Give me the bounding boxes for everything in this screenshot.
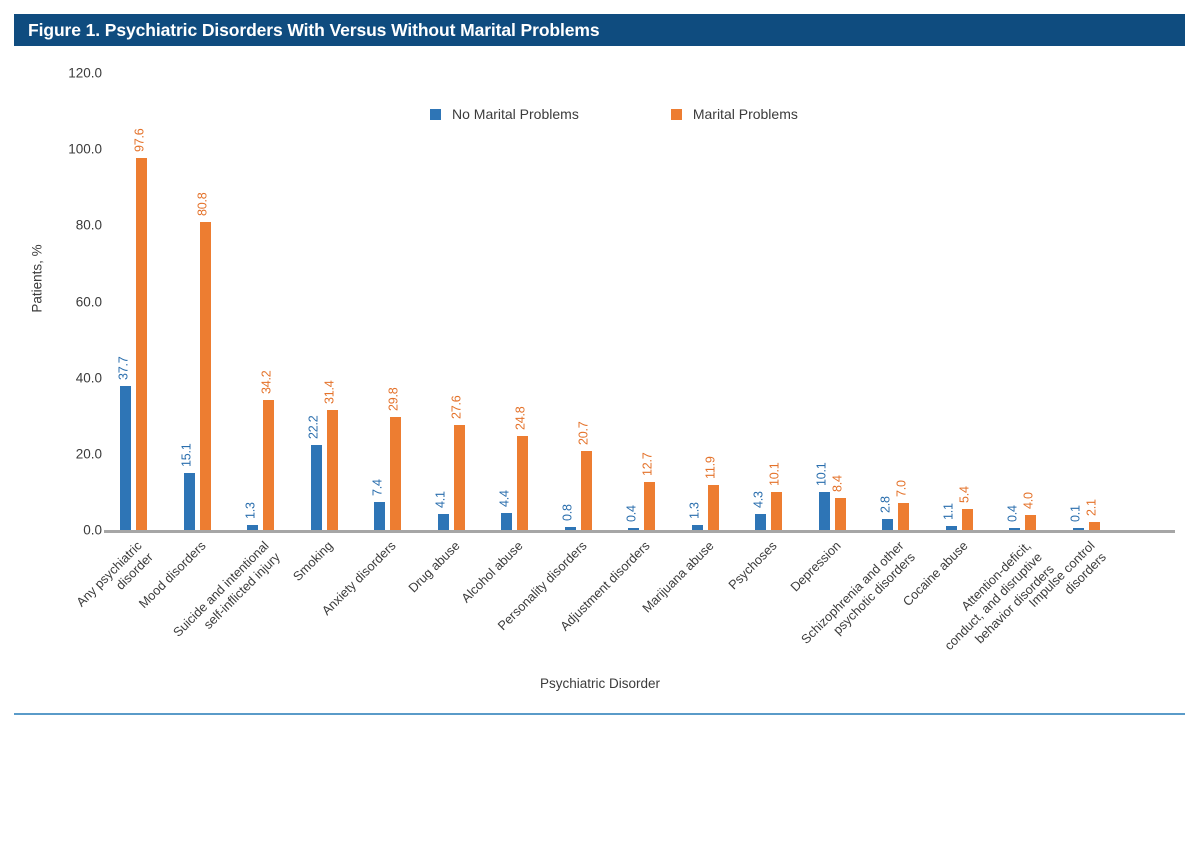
bar-value-label: 8.4 — [831, 475, 845, 492]
figure-title: Figure 1. Psychiatric Disorders With Ver… — [14, 20, 600, 41]
bar-value-label: 1.3 — [243, 502, 257, 519]
bar-value-label: 31.4 — [323, 381, 337, 405]
bar-value-label: 20.7 — [577, 422, 591, 446]
bar-group: 1.334.2 — [247, 73, 275, 530]
bar-marital-problems[interactable]: 12.7 — [644, 482, 655, 530]
y-axis-title: Patients, % — [30, 219, 45, 339]
bar-group: 0.44.0 — [1009, 73, 1037, 530]
chart-area: 0.020.040.060.080.0100.0120.0 Patients, … — [0, 46, 1200, 713]
bar-value-label: 12.7 — [640, 452, 654, 476]
bar-value-label: 0.4 — [624, 505, 638, 522]
bar-value-label: 7.4 — [370, 479, 384, 496]
bar-marital-problems[interactable]: 24.8 — [517, 436, 528, 530]
bar-group: 0.820.7 — [565, 73, 593, 530]
figure-title-bar: Figure 1. Psychiatric Disorders With Ver… — [14, 14, 1185, 46]
bar-group: 2.87.0 — [882, 73, 910, 530]
bar-marital-problems[interactable]: 29.8 — [390, 417, 401, 530]
bar-value-label: 1.3 — [688, 502, 702, 519]
bar-no-marital-problems[interactable]: 22.2 — [311, 445, 322, 530]
bar-no-marital-problems[interactable]: 1.3 — [692, 525, 703, 530]
bar-marital-problems[interactable]: 10.1 — [771, 492, 782, 530]
bar-group: 4.310.1 — [755, 73, 783, 530]
bar-value-label: 4.4 — [497, 490, 511, 507]
bar-value-label: 29.8 — [386, 387, 400, 411]
bar-marital-problems[interactable]: 20.7 — [581, 451, 592, 530]
bar-value-label: 37.7 — [116, 357, 130, 381]
bar-value-label: 15.1 — [180, 443, 194, 467]
bar-group: 22.231.4 — [311, 73, 339, 530]
bar-marital-problems[interactable]: 80.8 — [200, 222, 211, 530]
bar-value-label: 0.8 — [561, 504, 575, 521]
y-axis-tick-label: 0.0 — [44, 523, 102, 538]
bar-marital-problems[interactable]: 97.6 — [136, 158, 147, 530]
bar-value-label: 97.6 — [132, 129, 146, 153]
bar-marital-problems[interactable]: 31.4 — [327, 410, 338, 530]
y-axis-tick-label: 100.0 — [44, 142, 102, 157]
bar-value-label: 0.4 — [1005, 505, 1019, 522]
y-axis-tick-label: 80.0 — [44, 218, 102, 233]
bar-group: 15.180.8 — [184, 73, 212, 530]
bar-no-marital-problems[interactable]: 2.8 — [882, 519, 893, 530]
y-axis-tick-label: 120.0 — [44, 66, 102, 81]
bar-value-label: 27.6 — [450, 395, 464, 419]
bar-group: 4.424.8 — [501, 73, 529, 530]
bar-marital-problems[interactable]: 34.2 — [263, 400, 274, 530]
bar-marital-problems[interactable]: 27.6 — [454, 425, 465, 530]
bar-no-marital-problems[interactable]: 15.1 — [184, 473, 195, 531]
bar-no-marital-problems[interactable]: 7.4 — [374, 502, 385, 530]
bar-value-label: 2.1 — [1085, 499, 1099, 516]
bar-group: 1.311.9 — [692, 73, 720, 530]
bar-marital-problems[interactable]: 11.9 — [708, 485, 719, 530]
bar-no-marital-problems[interactable]: 1.3 — [247, 525, 258, 530]
bar-marital-problems[interactable]: 7.0 — [898, 503, 909, 530]
bar-value-label: 0.1 — [1069, 505, 1083, 522]
bar-marital-problems[interactable]: 5.4 — [962, 509, 973, 530]
y-axis-tick-label: 40.0 — [44, 370, 102, 385]
bar-value-label: 4.3 — [751, 491, 765, 508]
bar-value-label: 22.2 — [307, 416, 321, 440]
bar-no-marital-problems[interactable]: 4.4 — [501, 513, 512, 530]
bar-no-marital-problems[interactable]: 0.1 — [1073, 528, 1084, 530]
bar-no-marital-problems[interactable]: 37.7 — [120, 386, 131, 530]
bar-group: 4.127.6 — [438, 73, 466, 530]
bar-value-label: 24.8 — [513, 406, 527, 430]
bar-no-marital-problems[interactable]: 1.1 — [946, 526, 957, 530]
bar-value-label: 4.1 — [434, 492, 448, 509]
bar-no-marital-problems[interactable]: 0.4 — [1009, 528, 1020, 530]
plot-area: 37.797.615.180.81.334.222.231.47.429.84.… — [108, 73, 1173, 530]
bar-no-marital-problems[interactable]: 4.3 — [755, 514, 766, 530]
bar-group: 1.15.4 — [946, 73, 974, 530]
bar-marital-problems[interactable]: 8.4 — [835, 498, 846, 530]
bar-value-label: 4.0 — [1021, 492, 1035, 509]
bar-group: 10.18.4 — [819, 73, 847, 530]
bar-no-marital-problems[interactable]: 0.8 — [565, 527, 576, 530]
bar-value-label: 7.0 — [894, 481, 908, 498]
bar-marital-problems[interactable]: 2.1 — [1089, 522, 1100, 530]
bar-value-label: 5.4 — [958, 487, 972, 504]
bar-value-label: 10.1 — [815, 462, 829, 486]
bar-group: 0.12.1 — [1073, 73, 1101, 530]
bar-group: 7.429.8 — [374, 73, 402, 530]
bar-value-label: 2.8 — [878, 497, 892, 514]
y-axis-tick-label: 20.0 — [44, 446, 102, 461]
bar-marital-problems[interactable]: 4.0 — [1025, 515, 1036, 530]
bar-no-marital-problems[interactable]: 0.4 — [628, 528, 639, 530]
bar-group: 0.412.7 — [628, 73, 656, 530]
bar-group: 37.797.6 — [120, 73, 148, 530]
bar-no-marital-problems[interactable]: 4.1 — [438, 514, 449, 530]
bar-no-marital-problems[interactable]: 10.1 — [819, 492, 830, 530]
bar-value-label: 34.2 — [259, 370, 273, 394]
y-axis-tick-label: 60.0 — [44, 294, 102, 309]
y-axis-ticks: 0.020.040.060.080.0100.0120.0 — [38, 73, 102, 530]
bar-value-label: 11.9 — [704, 456, 718, 479]
bar-value-label: 1.1 — [942, 503, 956, 520]
bottom-rule — [14, 713, 1185, 715]
bar-value-label: 80.8 — [196, 193, 210, 217]
bar-value-label: 10.1 — [767, 462, 781, 486]
x-axis-baseline — [104, 530, 1175, 533]
